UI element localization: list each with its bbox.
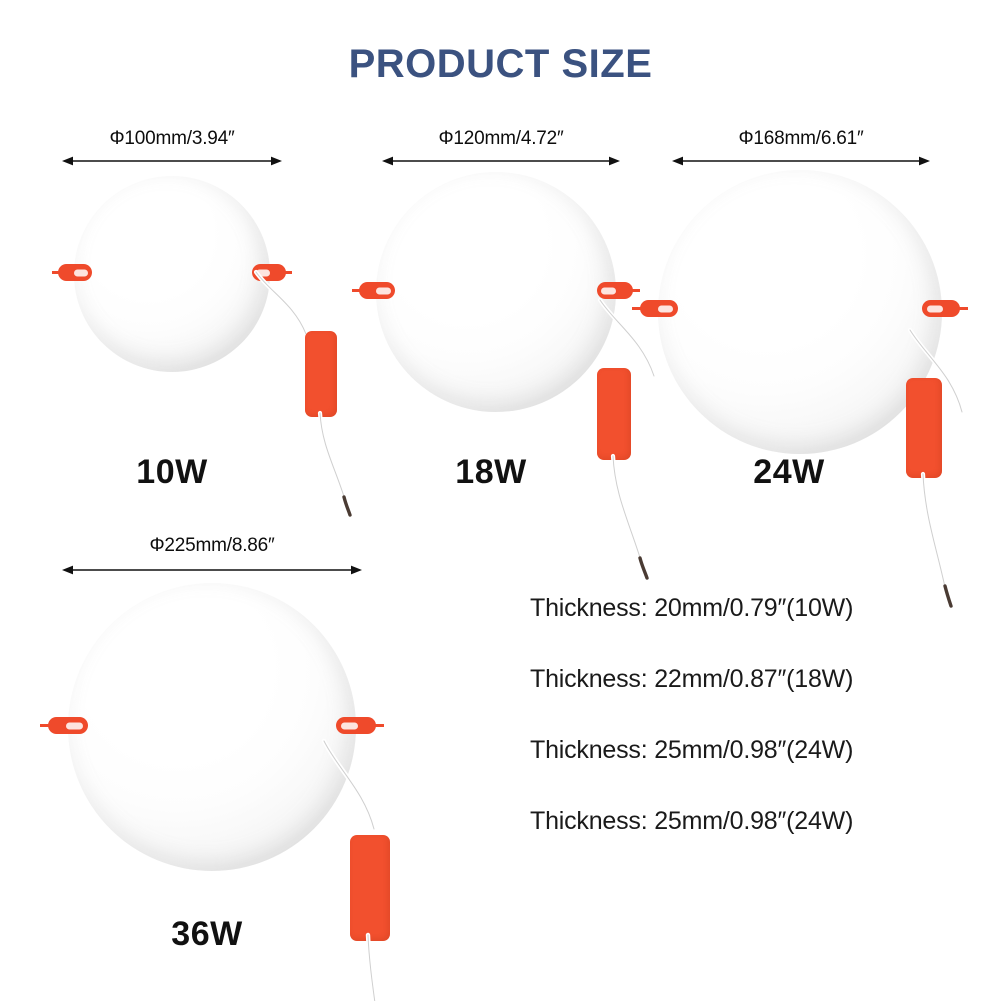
clip-stem-left-10w: [52, 271, 64, 274]
led-panel-18w: [376, 172, 616, 412]
dimension-label-18w: Φ120mm/4.72″: [382, 128, 620, 150]
led-driver-box-36w: [350, 835, 390, 941]
product-card-24w: Φ168mm/6.61″: [672, 128, 930, 578]
led-panel-36w: [68, 583, 356, 871]
clip-stem-left-18w: [352, 289, 365, 292]
power-wire-lower-24w: [912, 472, 982, 612]
led-driver-box-18w: [597, 368, 631, 460]
wattage-label-10w: 10W: [62, 453, 282, 492]
dimension-arrow-36w: [62, 563, 362, 577]
thickness-spec-24w: Thickness: 25mm/0.98″(24W): [530, 738, 980, 763]
mounting-clip-left-36w: [48, 717, 88, 734]
product-card-10w: Φ100mm/3.94″: [62, 128, 282, 518]
wattage-label-18w: 18W: [372, 453, 610, 492]
panel-disc-10w: [74, 176, 270, 372]
product-card-18w: Φ120mm/4.72″: [382, 128, 620, 558]
thickness-spec-list: Thickness: 20mm/0.79″(10W) Thickness: 22…: [530, 596, 980, 834]
clip-stem-right-36w: [370, 724, 384, 727]
dimension-label-10w: Φ100mm/3.94″: [62, 128, 282, 150]
product-card-36w: Φ225mm/8.86″: [62, 535, 362, 965]
thickness-spec-36w: Thickness: 25mm/0.98″(24W): [530, 809, 980, 834]
led-panel-10w: [74, 176, 270, 372]
clip-stem-right-18w: [627, 289, 640, 292]
led-panel-24w: [658, 170, 942, 454]
dimension-arrow-10w: [62, 154, 282, 168]
product-size-infographic: PRODUCT SIZE Φ100mm/3.94″: [0, 0, 1001, 1001]
dimension-arrow-24w: [672, 154, 930, 168]
thickness-spec-10w: Thickness: 20mm/0.79″(10W): [530, 596, 980, 621]
panel-disc-24w: [658, 170, 942, 454]
clip-stem-left-36w: [40, 724, 54, 727]
wattage-label-36w: 36W: [92, 915, 322, 954]
dimension-label-24w: Φ168mm/6.61″: [672, 128, 930, 150]
dimension-arrow-18w: [382, 154, 620, 168]
led-driver-box-10w: [305, 331, 337, 417]
clip-stem-right-24w: [954, 307, 968, 310]
panel-disc-18w: [376, 172, 616, 412]
dimension-label-36w: Φ225mm/8.86″: [62, 535, 362, 557]
page-title: PRODUCT SIZE: [0, 42, 1001, 87]
power-wire-lower-10w: [310, 411, 370, 521]
panel-disc-36w: [68, 583, 356, 871]
power-wire-lower-36w: [356, 933, 416, 1001]
wattage-label-24w: 24W: [660, 453, 918, 492]
clip-stem-left-24w: [632, 307, 646, 310]
thickness-spec-18w: Thickness: 22mm/0.87″(18W): [530, 667, 980, 692]
